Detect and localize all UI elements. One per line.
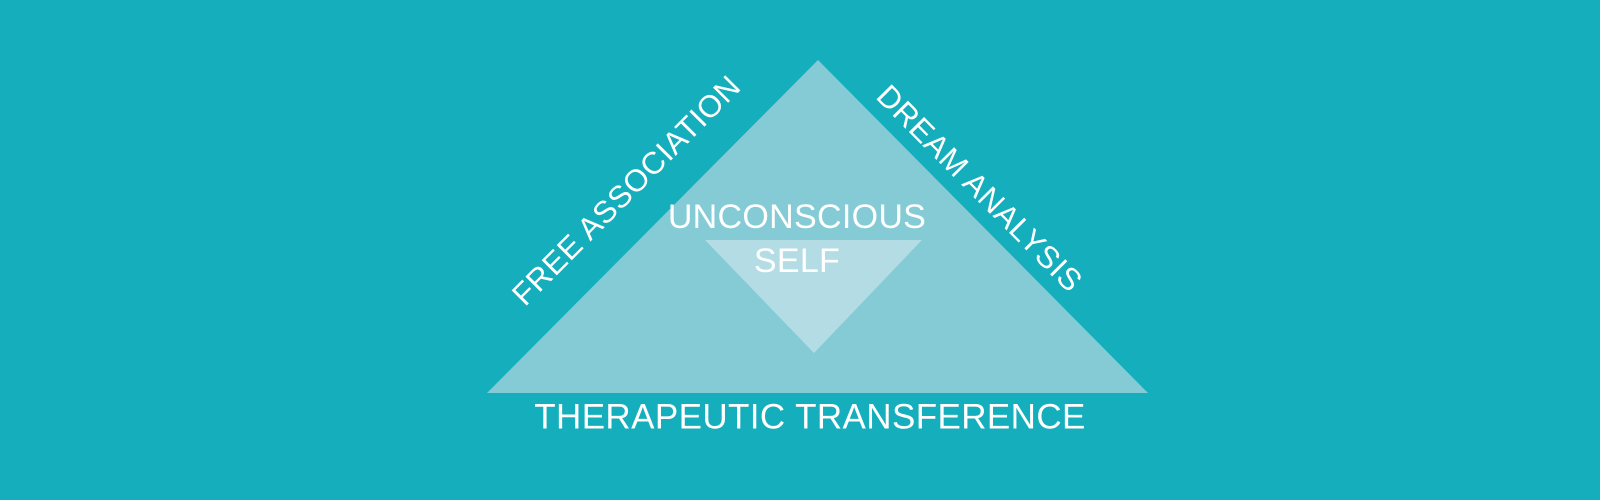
diagram-canvas: FREE ASSOCIATION DREAM ANALYSIS THERAPEU… <box>0 0 1600 500</box>
triangle-diagram: FREE ASSOCIATION DREAM ANALYSIS THERAPEU… <box>0 0 1600 500</box>
center-label-self: SELF <box>754 242 840 280</box>
base-label-therapeutic-transference: THERAPEUTIC TRANSFERENCE <box>534 397 1086 436</box>
center-label-unconscious: UNCONSCIOUS <box>668 198 926 236</box>
